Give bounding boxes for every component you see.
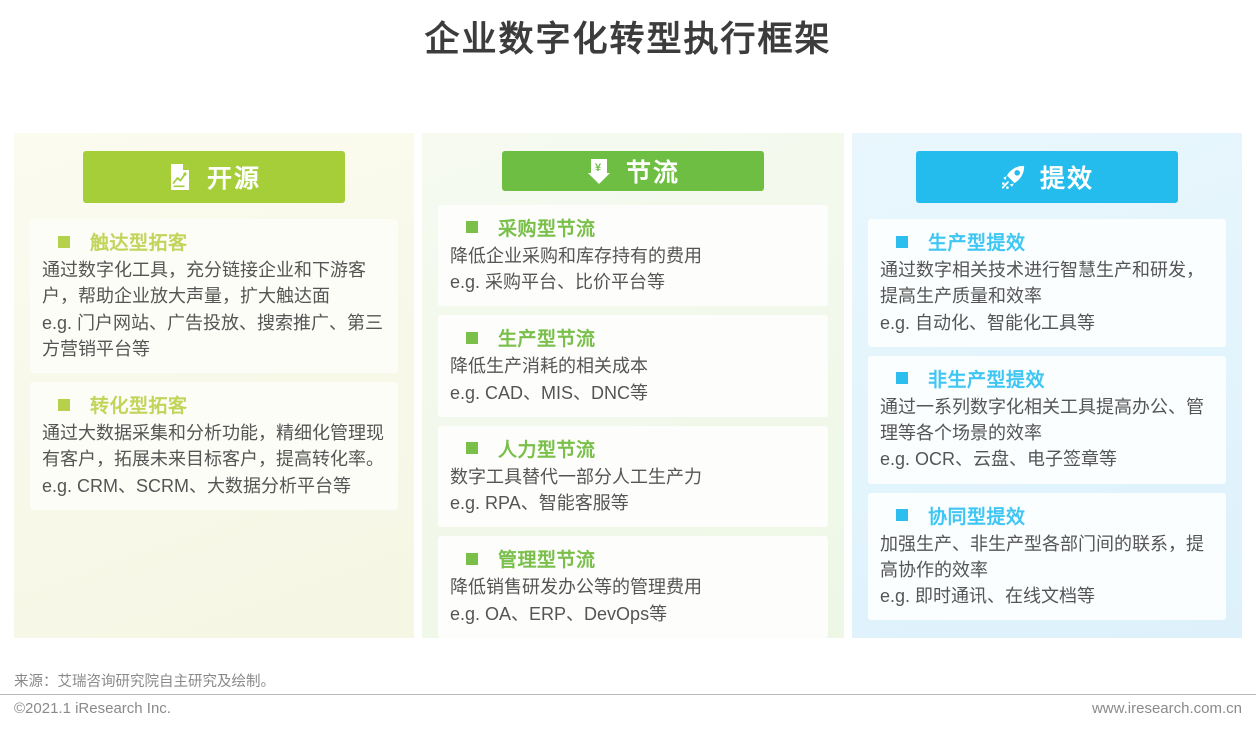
- card[interactable]: 管理型节流 降低销售研发办公等的管理费用 e.g. OA、ERP、DevOps等: [438, 536, 828, 638]
- card-example: e.g. CRM、SCRM、大数据分析平台等: [42, 473, 386, 499]
- column-header-tixiao: 提效: [916, 151, 1178, 203]
- cards-jieliu: 采购型节流 降低企业采购和库存持有的费用 e.g. 采购平台、比价平台等 生产型…: [422, 205, 844, 638]
- card-body: 通过一系列数字化相关工具提高办公、管理等各个场景的效率: [880, 394, 1214, 447]
- card-head: 触达型拓客: [42, 228, 386, 255]
- column-kaiyuan: 开源 触达型拓客 通过数字化工具，充分链接企业和下游客户，帮助企业放大声量，扩大…: [14, 133, 414, 638]
- card[interactable]: 采购型节流 降低企业采购和库存持有的费用 e.g. 采购平台、比价平台等: [438, 205, 828, 307]
- bullet-square-icon: [466, 221, 478, 233]
- cards-tixiao: 生产型提效 通过数字相关技术进行智慧生产和研发，提高生产质量和效率 e.g. 自…: [852, 219, 1242, 638]
- card-body: 通过数字化工具，充分链接企业和下游客户，帮助企业放大声量，扩大触达面: [42, 257, 386, 310]
- card-body: 降低企业采购和库存持有的费用: [450, 243, 816, 269]
- copyright-text: ©2021.1 iResearch Inc.: [14, 700, 171, 717]
- bullet-square-icon: [466, 553, 478, 565]
- card-head: 生产型提效: [880, 228, 1214, 255]
- card-head: 管理型节流: [450, 545, 816, 572]
- card-head: 采购型节流: [450, 214, 816, 241]
- page-title: 企业数字化转型执行框架: [0, 0, 1256, 62]
- bullet-square-icon: [896, 372, 908, 384]
- card-title: 触达型拓客: [90, 228, 188, 255]
- card[interactable]: 触达型拓客 通过数字化工具，充分链接企业和下游客户，帮助企业放大声量，扩大触达面…: [30, 219, 398, 373]
- card-title: 转化型拓客: [90, 391, 188, 418]
- card-title: 生产型节流: [498, 324, 596, 351]
- footer-divider: [0, 694, 1256, 695]
- card-title: 人力型节流: [498, 435, 596, 462]
- card-example: e.g. 门户网站、广告投放、搜索推广、第三方营销平台等: [42, 310, 386, 363]
- column-header-jieliu: ¥ 节流: [502, 151, 764, 191]
- column-header-label: 节流: [626, 153, 680, 189]
- column-header-kaiyuan: 开源: [83, 151, 345, 203]
- card-title: 非生产型提效: [928, 365, 1045, 392]
- source-note: 来源：艾瑞咨询研究院自主研究及绘制。: [14, 670, 275, 691]
- card-head: 协同型提效: [880, 502, 1214, 529]
- column-jieliu: ¥ 节流 采购型节流 降低企业采购和库存持有的费用 e.g. 采购平台、比价平台…: [422, 133, 844, 638]
- column-header-label: 提效: [1040, 159, 1094, 195]
- svg-text:¥: ¥: [595, 162, 603, 174]
- card-example: e.g. CAD、MIS、DNC等: [450, 380, 816, 406]
- card-head: 生产型节流: [450, 324, 816, 351]
- card-example: e.g. OCR、云盘、电子签章等: [880, 446, 1214, 472]
- card-body: 加强生产、非生产型各部门间的联系，提高协作的效率: [880, 531, 1214, 584]
- card[interactable]: 非生产型提效 通过一系列数字化相关工具提高办公、管理等各个场景的效率 e.g. …: [868, 356, 1226, 484]
- website-link[interactable]: www.iresearch.com.cn: [1092, 700, 1242, 717]
- bullet-square-icon: [896, 509, 908, 521]
- card-title: 采购型节流: [498, 214, 596, 241]
- column-tixiao: 提效 生产型提效 通过数字相关技术进行智慧生产和研发，提高生产质量和效率 e.g…: [852, 133, 1242, 638]
- card-head: 转化型拓客: [42, 391, 386, 418]
- card-head: 人力型节流: [450, 435, 816, 462]
- card[interactable]: 转化型拓客 通过大数据采集和分析功能，精细化管理现有客户，拓展未来目标客户，提高…: [30, 382, 398, 510]
- card-body: 通过大数据采集和分析功能，精细化管理现有客户，拓展未来目标客户，提高转化率。: [42, 420, 386, 473]
- card-example: e.g. OA、ERP、DevOps等: [450, 601, 816, 627]
- rocket-icon: [1000, 162, 1026, 192]
- card-example: e.g. 即时通讯、在线文档等: [880, 583, 1214, 609]
- bullet-square-icon: [58, 399, 70, 411]
- cards-kaiyuan: 触达型拓客 通过数字化工具，充分链接企业和下游客户，帮助企业放大声量，扩大触达面…: [14, 219, 414, 638]
- card[interactable]: 生产型提效 通过数字相关技术进行智慧生产和研发，提高生产质量和效率 e.g. 自…: [868, 219, 1226, 347]
- card[interactable]: 人力型节流 数字工具替代一部分人工生产力 e.g. RPA、智能客服等: [438, 426, 828, 528]
- bullet-square-icon: [466, 442, 478, 454]
- card-example: e.g. 采购平台、比价平台等: [450, 269, 816, 295]
- card-example: e.g. 自动化、智能化工具等: [880, 310, 1214, 336]
- framework-columns: 开源 触达型拓客 通过数字化工具，充分链接企业和下游客户，帮助企业放大声量，扩大…: [14, 133, 1242, 638]
- card-head: 非生产型提效: [880, 365, 1214, 392]
- card[interactable]: 协同型提效 加强生产、非生产型各部门间的联系，提高协作的效率 e.g. 即时通讯…: [868, 493, 1226, 621]
- bullet-square-icon: [58, 236, 70, 248]
- card-example: e.g. RPA、智能客服等: [450, 490, 816, 516]
- card-title: 生产型提效: [928, 228, 1026, 255]
- column-header-label: 开源: [207, 159, 261, 195]
- card-title: 管理型节流: [498, 545, 596, 572]
- document-chart-icon: [167, 162, 193, 192]
- yen-down-arrow-icon: ¥: [586, 156, 612, 186]
- card-title: 协同型提效: [928, 502, 1026, 529]
- card-body: 数字工具替代一部分人工生产力: [450, 464, 816, 490]
- card-body: 通过数字相关技术进行智慧生产和研发，提高生产质量和效率: [880, 257, 1214, 310]
- bullet-square-icon: [466, 332, 478, 344]
- bullet-square-icon: [896, 236, 908, 248]
- card[interactable]: 生产型节流 降低生产消耗的相关成本 e.g. CAD、MIS、DNC等: [438, 315, 828, 417]
- card-body: 降低生产消耗的相关成本: [450, 353, 816, 379]
- card-body: 降低销售研发办公等的管理费用: [450, 574, 816, 600]
